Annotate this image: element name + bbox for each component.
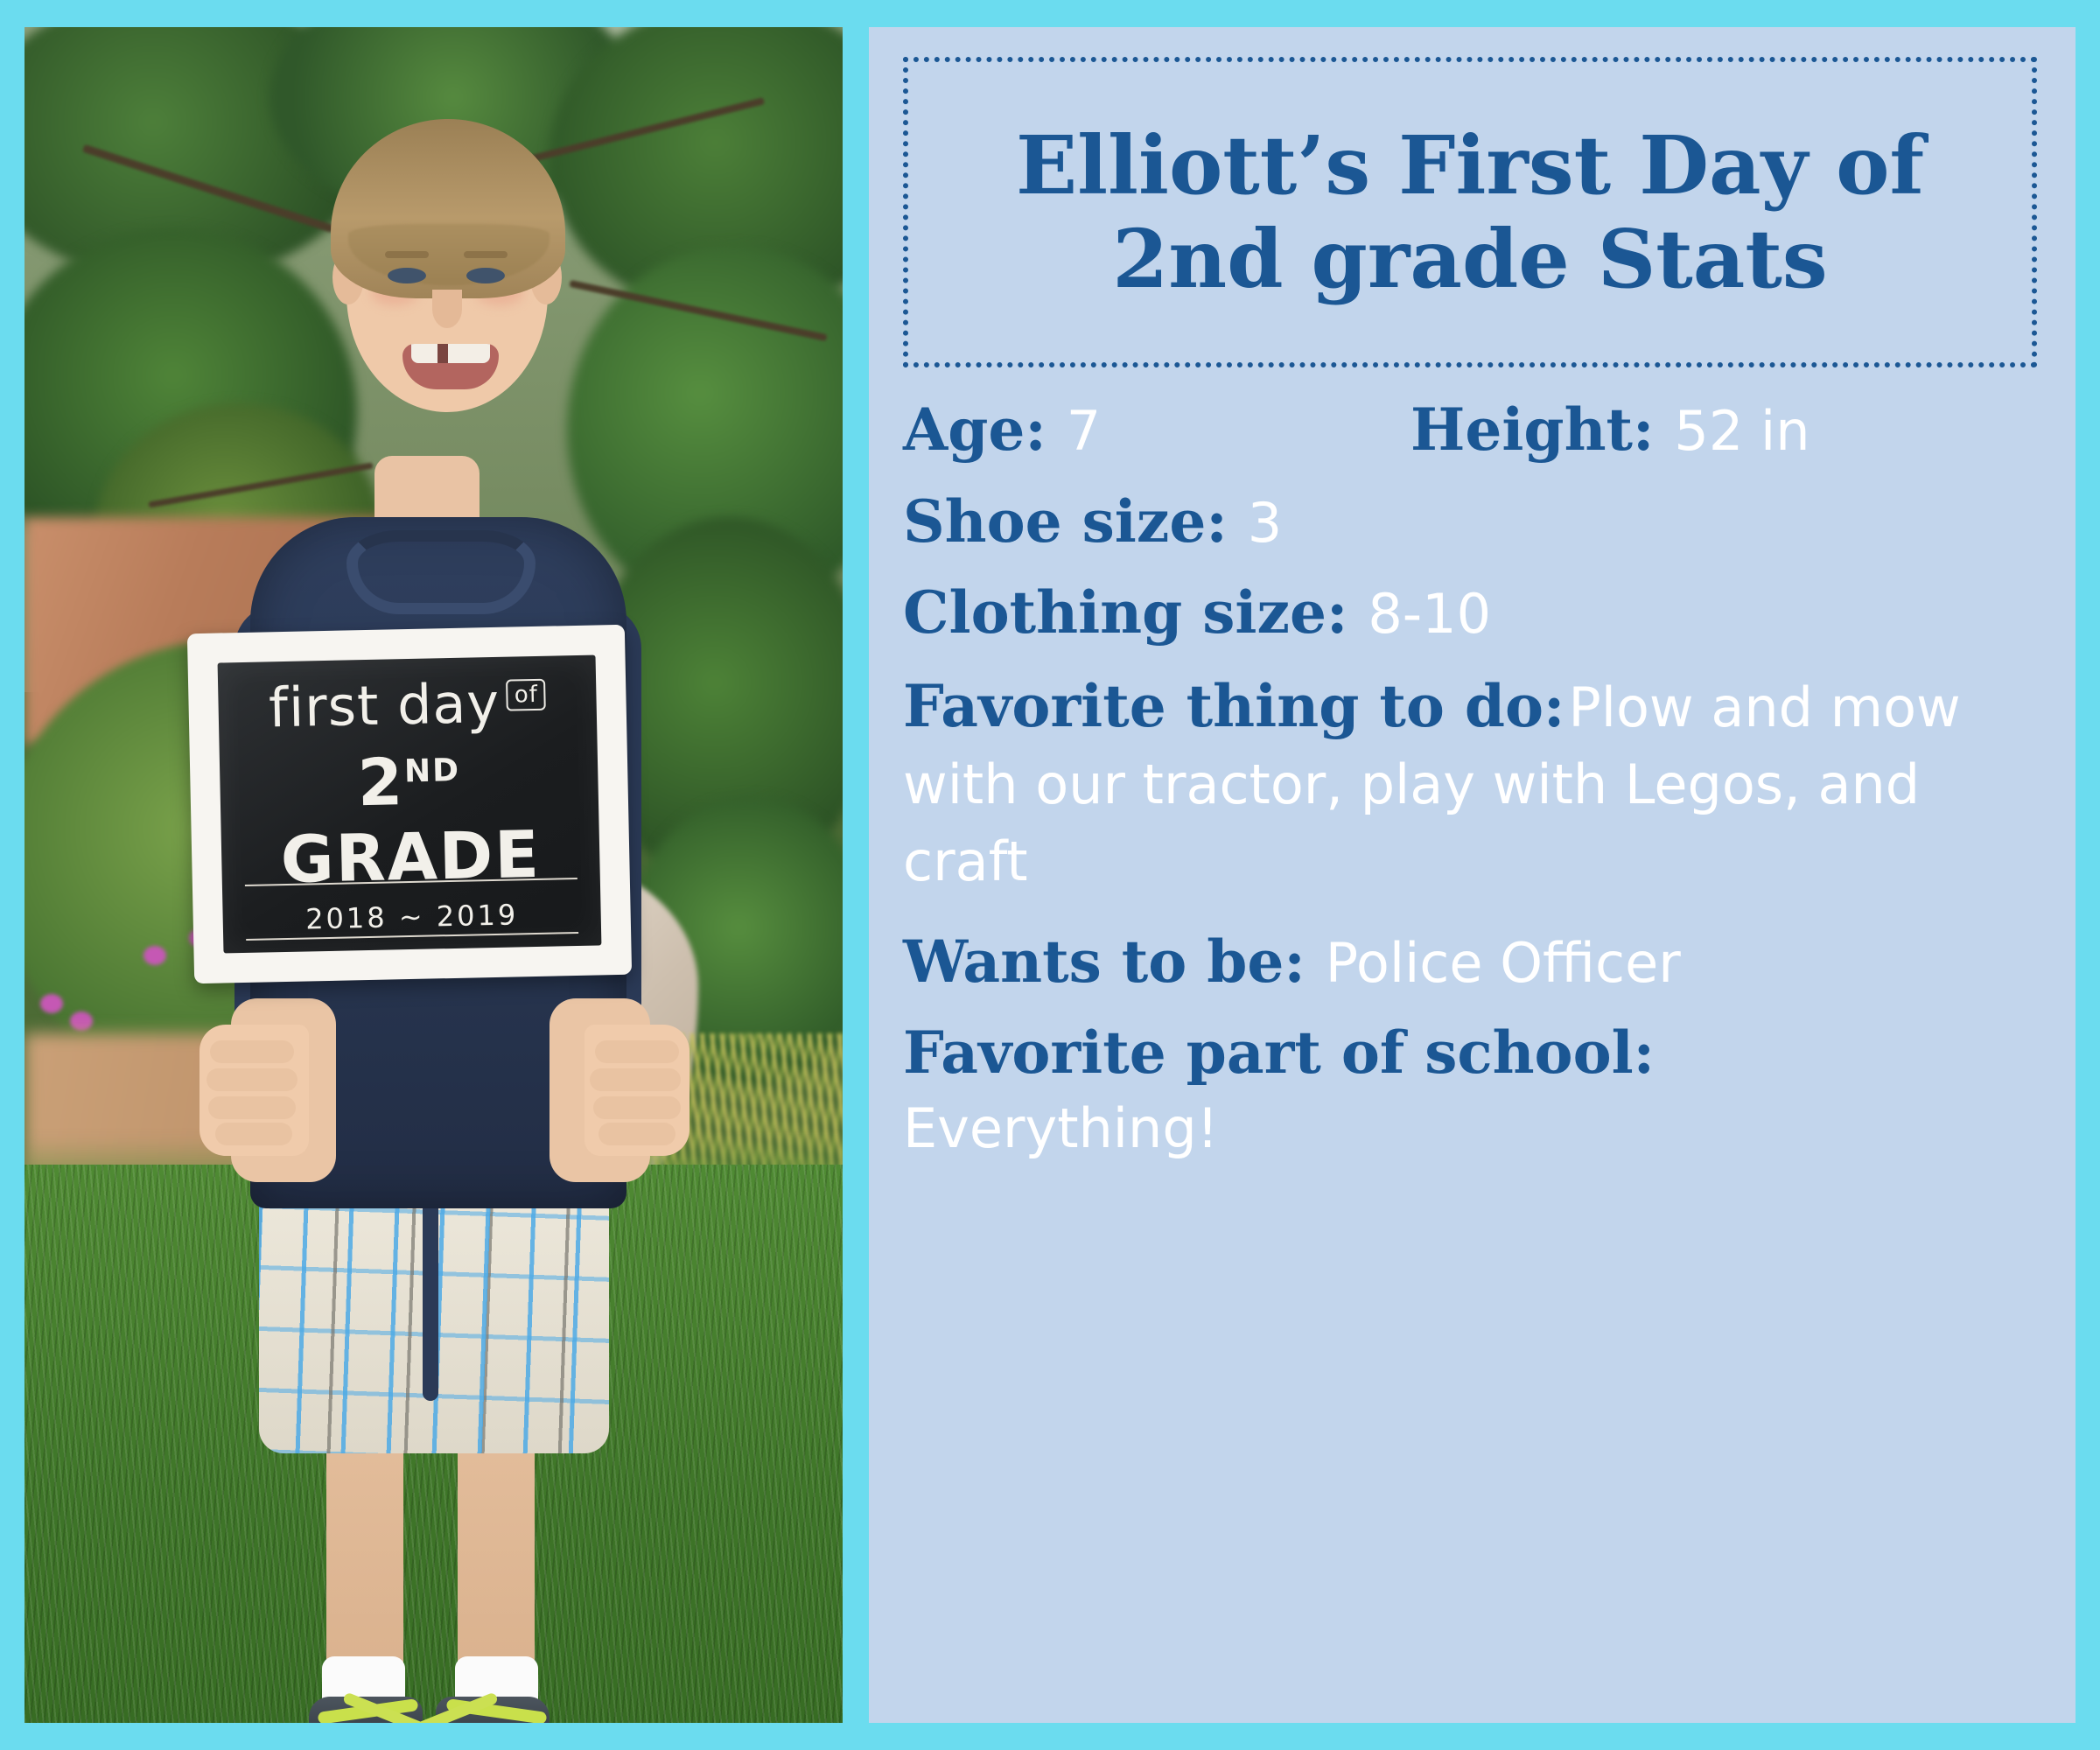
stat-row-favorite-part: Favorite part of school: Everything! (903, 1018, 2058, 1167)
mouth (402, 344, 499, 389)
chalkboard-surface: first dayof 2ND GRADE 2018 ~ 2019 (218, 655, 602, 954)
nose (432, 290, 462, 328)
chalk-grade-number: 2 (357, 745, 405, 821)
stat-label-favorite-part: Favorite part of school: (903, 1018, 2058, 1088)
child-photo: first dayof 2ND GRADE 2018 ~ 2019 (24, 27, 843, 1723)
flower (40, 994, 63, 1013)
stat-label-shoe-size: Shoe size: (903, 487, 1228, 556)
stat-label-age: Age: (903, 395, 1046, 464)
stat-height: Height: 52 in (1410, 395, 2058, 465)
stat-row-shoe-size: Shoe size: 3 (903, 486, 2058, 557)
stats-card: first dayof 2ND GRADE 2018 ~ 2019 Elliot… (0, 0, 2100, 1750)
stats-panel: Elliott’s First Day of 2nd grade Stats A… (869, 27, 2075, 1723)
eyebrow-left (385, 251, 429, 258)
hand-left (199, 1025, 309, 1156)
stat-value-age: 7 (1067, 399, 1101, 463)
stat-label-favorite-thing: Favorite thing to do: (903, 672, 1564, 740)
eye-left (388, 268, 426, 283)
stat-label-height: Height: (1410, 395, 1654, 464)
stat-row-favorite-thing: Favorite thing to do: Plow and mow with … (903, 669, 2058, 900)
stat-value-wants-to-be: Police Officer (1326, 931, 1681, 995)
page-title: Elliott’s First Day of 2nd grade Stats (990, 119, 1950, 305)
shirt-collar (346, 530, 535, 614)
stat-row-age-height: Age: 7 Height: 52 in (903, 395, 2058, 465)
stat-row-wants-to-be: Wants to be: Police Officer (903, 927, 2058, 997)
title-line-2: 2nd grade Stats (1112, 212, 1827, 306)
eye-right (466, 268, 505, 283)
chalk-line-grade: 2ND GRADE (220, 740, 601, 899)
flower (70, 1011, 93, 1031)
stat-value-height: 52 in (1674, 399, 1809, 463)
stat-value-shoe-size: 3 (1248, 491, 1282, 555)
stat-row-clothing-size: Clothing size: 8-10 (903, 577, 2058, 648)
flower (143, 946, 166, 965)
stat-value-clothing-size: 8-10 (1368, 582, 1491, 646)
eyebrow-right (464, 251, 507, 258)
stat-label-wants-to-be: Wants to be: (903, 927, 1305, 996)
stat-age: Age: 7 (903, 395, 1410, 465)
title-line-1: Elliott’s First Day of (1016, 118, 1924, 213)
stat-label-clothing-size: Clothing size: (903, 578, 1347, 647)
chalk-of-text: of (506, 679, 546, 711)
stat-value-favorite-part: Everything! (903, 1090, 2058, 1167)
chalk-line-first-day: first dayof (218, 669, 597, 741)
chalk-first-day-text: first day (268, 671, 500, 740)
chalk-grade-ordinal: ND (404, 752, 461, 789)
shorts-shadow (423, 1191, 438, 1401)
stats-list: Age: 7 Height: 52 in Shoe size: 3 Clothi… (903, 395, 2058, 1167)
hand-right (584, 1025, 689, 1156)
chalkboard-sign: first dayof 2ND GRADE 2018 ~ 2019 (187, 625, 632, 983)
title-box: Elliott’s First Day of 2nd grade Stats (903, 57, 2037, 367)
